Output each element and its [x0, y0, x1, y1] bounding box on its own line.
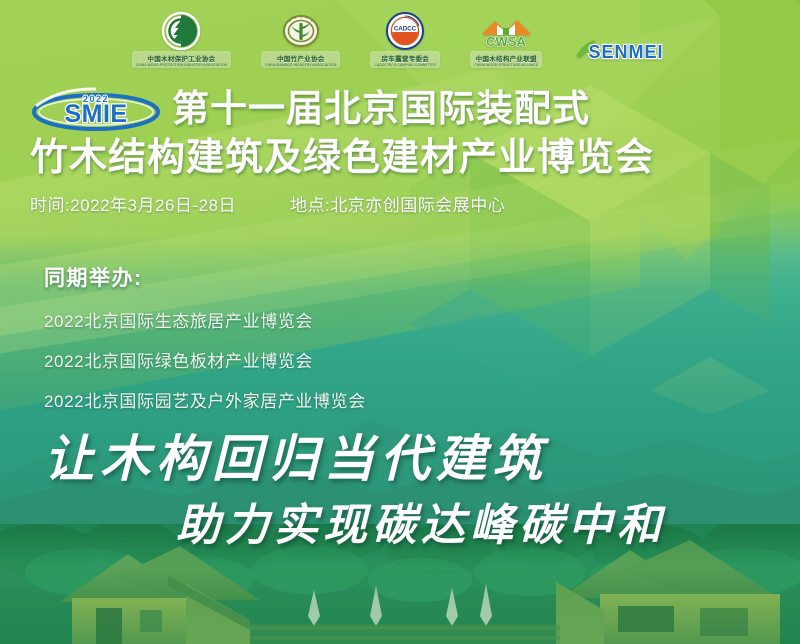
pine-tree-shield-icon: [161, 11, 201, 51]
sponsor-logo-band: 中国木材保护工业协会 CHINA WOOD PROTECTION INDUSTR…: [0, 0, 800, 78]
bamboo-seal-icon: [281, 11, 321, 51]
logo-cn-wood-protection: 中国木材保护工业协会 CHINA WOOD PROTECTION INDUSTR…: [132, 10, 231, 68]
svg-text:SENMEI: SENMEI: [589, 42, 664, 62]
logo-label-cn: 中国竹产业协会: [277, 53, 325, 63]
smie-event-logo: 2022 SMIE: [30, 84, 162, 132]
concurrent-item: 2022北京国际绿色板材产业博览会: [44, 347, 366, 372]
logo-label-en: CHINA BAMBOO INDUSTRY ASSOCIATION: [265, 63, 336, 67]
title-line-1: 第十一届北京国际装配式: [172, 90, 590, 127]
slogan-line-1: 让木构回归当代建筑: [44, 419, 548, 491]
logo-label-en: CHINA WOOD STRUCTURE ALLIANCE: [474, 63, 538, 67]
event-date: 时间:2022年3月26日-28日: [30, 191, 236, 216]
logo-label-cn: 中国木结构产业联盟: [476, 53, 537, 63]
senmei-leaf-icon: SENMEI: [572, 34, 668, 68]
logo-label-en: CHINA WOOD PROTECTION INDUSTRY ASSOCIATI…: [136, 63, 227, 67]
logo-cn-bamboo: 中国竹产业协会 CHINA BAMBOO INDUSTRY ASSOCIATIO…: [261, 10, 340, 68]
concurrent-events-block: 同期举办: 2022北京国际生态旅居产业博览会 2022北京国际绿色板材产业博览…: [44, 262, 366, 412]
title-line-2: 竹木结构建筑及绿色建材产业博览会: [30, 139, 800, 177]
svg-text:SMIE: SMIE: [64, 100, 127, 128]
logo-cwsa: CWSA 中国木结构产业联盟 CHINA WOOD STRUCTURE ALLI…: [470, 10, 542, 68]
logo-cadcc: CADCC 房车露营专委会 CADCC RV & CAMPING COMMITT…: [370, 10, 440, 68]
event-title-block: 2022 SMIE 第十一届北京国际装配式 竹木结构建筑及绿色建材产业博览会 时…: [0, 84, 800, 216]
event-venue: 地点:北京亦创国际会展中心: [290, 191, 505, 216]
logo-label-en: CADCC RV & CAMPING COMMITTEE: [374, 63, 436, 67]
svg-text:CADCC: CADCC: [394, 26, 417, 33]
cwsa-house-icon: CWSA: [475, 11, 537, 51]
logo-senmei: SENMEI: [572, 10, 668, 68]
cadcc-badge-icon: CADCC: [385, 11, 425, 51]
logo-label-cn: 房车露营专委会: [382, 53, 430, 63]
event-meta-row: 时间:2022年3月26日-28日 地点:北京亦创国际会展中心: [30, 191, 800, 216]
concurrent-item: 2022北京国际园艺及户外家居产业博览会: [44, 387, 366, 412]
concurrent-heading: 同期举办:: [44, 262, 366, 292]
concurrent-item: 2022北京国际生态旅居产业博览会: [44, 307, 366, 332]
svg-text:CWSA: CWSA: [486, 34, 526, 49]
logo-label-cn: 中国木材保护工业协会: [147, 53, 215, 63]
poster-banner: 中国木材保护工业协会 CHINA WOOD PROTECTION INDUSTR…: [0, 0, 800, 644]
slogan-line-2: 助力实现碳达峰碳中和: [176, 489, 666, 553]
